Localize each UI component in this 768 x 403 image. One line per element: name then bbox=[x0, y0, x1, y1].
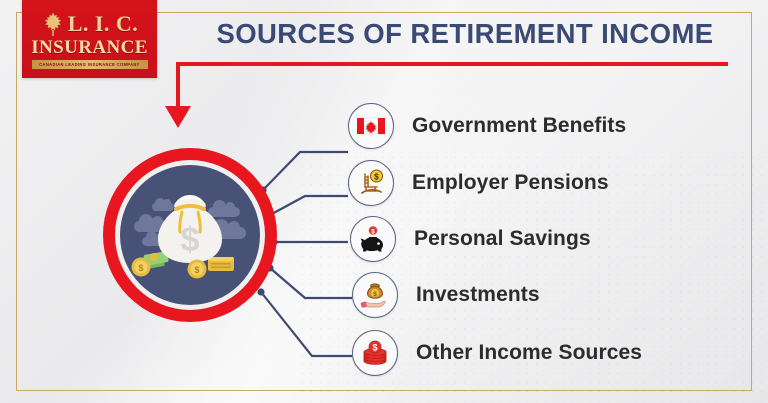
svg-text:$: $ bbox=[373, 291, 377, 298]
logo-name-secondary: INSURANCE bbox=[31, 38, 148, 57]
canada-flag-icon bbox=[348, 103, 394, 149]
list-item-label: Investments bbox=[416, 283, 540, 307]
title-rule-elbow bbox=[176, 62, 180, 110]
svg-text:$: $ bbox=[181, 221, 200, 259]
svg-text:$: $ bbox=[374, 173, 379, 182]
central-hub: $ $ $ bbox=[103, 148, 277, 322]
list-item[interactable]: $ Other Income Sources bbox=[352, 330, 642, 376]
hub-disc: $ $ $ bbox=[120, 165, 260, 305]
money-bag-with-coins-icon: $ $ $ bbox=[120, 165, 260, 305]
list-item[interactable]: Government Benefits bbox=[348, 103, 626, 149]
company-logo: L. I. C. INSURANCE CANADIAN LEADING INSU… bbox=[22, 0, 157, 78]
svg-text:$: $ bbox=[372, 342, 377, 352]
logo-name-primary: L. I. C. bbox=[68, 13, 139, 35]
list-item[interactable]: $ Personal Savings bbox=[350, 216, 591, 262]
logo-wordmark-row: L. I. C. bbox=[41, 11, 139, 37]
list-item[interactable]: $ Employer Pensions bbox=[348, 160, 609, 206]
rocking-chair-coin-icon: $ bbox=[348, 160, 394, 206]
list-item-label: Employer Pensions bbox=[412, 171, 609, 195]
coin-stack-icon: $ bbox=[352, 330, 398, 376]
logo-tagline-bar: CANADIAN LEADING INSURANCE COMPANY bbox=[32, 60, 148, 69]
list-item[interactable]: $ Investments bbox=[352, 272, 540, 318]
svg-text:$: $ bbox=[194, 265, 199, 275]
logo-tagline-text: CANADIAN LEADING INSURANCE COMPANY bbox=[39, 62, 140, 67]
page-title: SOURCES OF RETIREMENT INCOME bbox=[185, 20, 745, 48]
title-underline-rule bbox=[176, 62, 728, 66]
down-arrow-icon bbox=[165, 106, 191, 128]
list-item-label: Government Benefits bbox=[412, 114, 626, 138]
maple-leaf-icon bbox=[41, 11, 65, 37]
svg-text:$: $ bbox=[138, 263, 143, 273]
hand-holding-money-bag-icon: $ bbox=[352, 272, 398, 318]
infographic-canvas: L. I. C. INSURANCE CANADIAN LEADING INSU… bbox=[0, 0, 768, 403]
list-item-label: Other Income Sources bbox=[416, 341, 642, 365]
hub-ring-gap: $ $ $ bbox=[115, 160, 265, 310]
list-item-label: Personal Savings bbox=[414, 227, 591, 251]
piggy-bank-icon: $ bbox=[350, 216, 396, 262]
